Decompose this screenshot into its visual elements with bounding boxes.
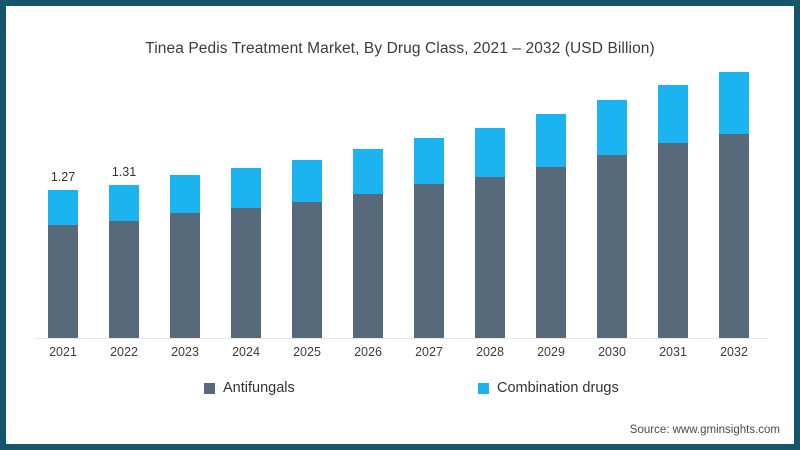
bar-segment-combination-drugs-2025[interactable] [292,160,322,202]
bar-segment-combination-drugs-2023[interactable] [170,175,200,213]
chart-title: Tinea Pedis Treatment Market, By Drug Cl… [0,40,800,58]
legend-label-antifungals: Antifungals [223,380,295,396]
bar-segment-combination-drugs-2031[interactable] [658,85,688,143]
x-tick-2028: 2028 [460,345,520,359]
x-tick-2031: 2031 [643,345,703,359]
bar-segment-combination-drugs-2022[interactable] [109,185,139,221]
bar-group-2023[interactable] [170,175,200,338]
bar-group-2029[interactable] [536,114,566,338]
bar-segment-antifungals-2025[interactable] [292,202,322,338]
bar-segment-antifungals-2030[interactable] [597,155,627,338]
bar-group-2022[interactable]: 1.31 [109,185,139,338]
bar-segment-antifungals-2027[interactable] [414,184,444,338]
legend-square-icon-antifungals [204,383,215,394]
x-tick-2027: 2027 [399,345,459,359]
legend-square-icon-combination-drugs [478,383,489,394]
bar-segment-combination-drugs-2021[interactable] [48,190,78,225]
bar-segment-antifungals-2029[interactable] [536,167,566,338]
bar-group-2026[interactable] [353,149,383,338]
bar-segment-combination-drugs-2028[interactable] [475,128,505,177]
x-tick-2023: 2023 [155,345,215,359]
bar-segment-antifungals-2021[interactable] [48,225,78,338]
bar-segment-antifungals-2026[interactable] [353,194,383,338]
bar-group-2028[interactable] [475,128,505,338]
bar-value-label-2022: 1.31 [112,165,136,179]
bar-segment-antifungals-2023[interactable] [170,213,200,338]
bar-segment-antifungals-2028[interactable] [475,177,505,338]
bar-segment-combination-drugs-2030[interactable] [597,100,627,155]
x-tick-2022: 2022 [94,345,154,359]
x-tick-2024: 2024 [216,345,276,359]
source-attribution: Source: www.gminsights.com [630,424,780,436]
bar-segment-antifungals-2024[interactable] [231,208,261,339]
x-tick-2025: 2025 [277,345,337,359]
chart-figure: Tinea Pedis Treatment Market, By Drug Cl… [0,0,800,450]
bar-segment-combination-drugs-2032[interactable] [719,72,749,134]
bar-segment-antifungals-2022[interactable] [109,221,139,338]
x-axis-tick-labels: 2021202220232024202520262027202820292030… [34,341,766,363]
bar-group-2031[interactable] [658,85,688,338]
x-tick-2030: 2030 [582,345,642,359]
bar-segment-combination-drugs-2026[interactable] [353,149,383,193]
legend-label-combination-drugs: Combination drugs [497,380,619,396]
x-tick-2029: 2029 [521,345,581,359]
bar-group-2032[interactable] [719,72,749,338]
bar-group-2021[interactable]: 1.27 [48,190,78,338]
bar-value-label-2021: 1.27 [51,170,75,184]
bar-segment-antifungals-2031[interactable] [658,143,688,338]
legend-item-antifungals[interactable]: Antifungals [204,380,295,396]
chart-legend: Antifungals Combination drugs [0,380,800,406]
plot-area: 1.271.31 [34,70,766,338]
x-axis-line [34,338,768,339]
bar-group-2025[interactable] [292,160,322,338]
x-tick-2032: 2032 [704,345,764,359]
legend-item-combination-drugs[interactable]: Combination drugs [478,380,619,396]
bar-segment-combination-drugs-2027[interactable] [414,138,444,185]
bar-segment-antifungals-2032[interactable] [719,134,749,338]
bar-group-2024[interactable] [231,168,261,338]
x-tick-2026: 2026 [338,345,398,359]
bar-segment-combination-drugs-2029[interactable] [536,114,566,166]
bar-group-2027[interactable] [414,138,444,338]
bar-group-2030[interactable] [597,100,627,338]
bar-segment-combination-drugs-2024[interactable] [231,168,261,208]
x-tick-2021: 2021 [33,345,93,359]
